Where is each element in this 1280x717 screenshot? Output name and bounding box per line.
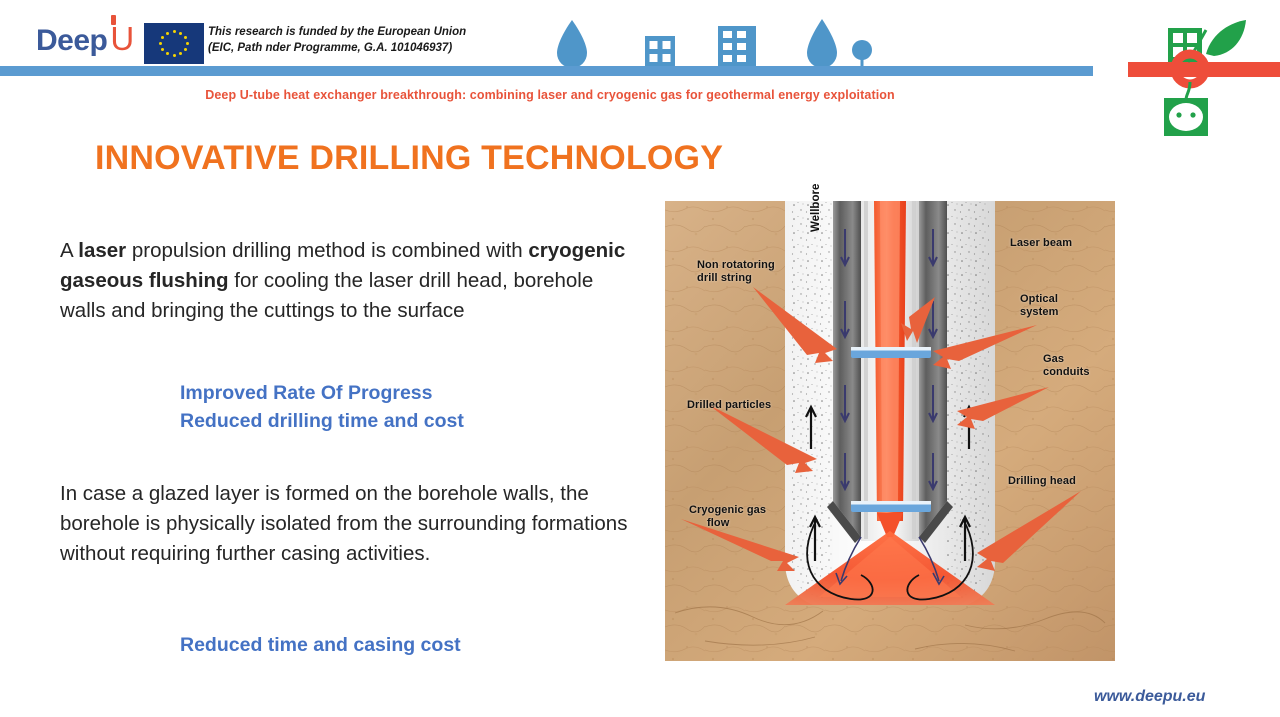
label-non-rotating-drill-string: Non rotatoring drill string: [697, 259, 817, 285]
label-line: Non rotatoring: [697, 259, 817, 272]
drilled-particles-right: [947, 201, 989, 598]
highlight-line-drilling-time-cost: Reduced drilling time and cost: [180, 407, 464, 435]
tree-icon: [807, 19, 837, 68]
label-drilling-head: Drilling head: [1008, 475, 1076, 488]
label-line: Gas: [1043, 353, 1090, 366]
label-gas-conduits: Gas conduits: [1043, 353, 1090, 379]
website-url[interactable]: www.deepu.eu: [1094, 688, 1205, 706]
small-building-icon: [645, 36, 675, 68]
label-line: Optical: [1020, 293, 1059, 306]
label-laser-beam: Laser beam: [1010, 237, 1072, 250]
label-wellbore: Wellbore: [810, 184, 822, 232]
label-cryogenic-gas-flow: Cryogenic gas flow: [689, 504, 799, 530]
project-tagline: Deep U-tube heat exchanger breakthrough:…: [0, 88, 1100, 102]
highlight-line-rate-of-progress: Improved Rate Of Progress: [180, 379, 464, 407]
optical-system-element: [851, 501, 931, 512]
label-line: conduits: [1043, 366, 1090, 379]
conduit-stripe: [912, 201, 916, 539]
bush-icon: [852, 40, 872, 68]
tree-icon: [557, 20, 587, 68]
label-line: system: [1020, 306, 1059, 319]
para1-mid: propulsion drilling method is combined w…: [126, 239, 528, 262]
paragraph-text: In case a glazed layer is formed on the …: [60, 479, 635, 569]
label-line: flow: [689, 517, 799, 530]
para1-pre: A: [60, 239, 78, 262]
label-optical-system: Optical system: [1020, 293, 1059, 319]
label-line: Cryogenic gas: [689, 504, 799, 517]
para1-bold-laser: laser: [78, 239, 126, 262]
highlight-benefits-2: Reduced time and casing cost: [180, 631, 461, 659]
main-paragraph-1: A laser propulsion drilling method is co…: [60, 236, 630, 326]
header-band: DeepU This research is funded by the Eur…: [0, 0, 1280, 84]
header-divider-rule: [0, 66, 1093, 76]
optical-system-element: [851, 347, 931, 358]
energy-logo-mark: [1128, 8, 1280, 136]
page-title: INNOVATIVE DRILLING TECHNOLOGY: [95, 139, 723, 178]
highlight-benefits-1: Improved Rate Of Progress Reduced drilli…: [180, 379, 464, 435]
conduit-stripe: [864, 201, 868, 539]
label-line: drill string: [697, 272, 817, 285]
main-paragraph-2: In case a glazed layer is formed on the …: [60, 479, 635, 569]
tall-building-icon: [718, 26, 756, 68]
leaf-icon: [1206, 20, 1246, 56]
power-socket-icon: [1164, 98, 1208, 136]
label-drilled-particles: Drilled particles: [687, 399, 771, 412]
drilling-diagram: Non rotatoring drill string Laser beam O…: [665, 201, 1115, 661]
paragraph-text: A laser propulsion drilling method is co…: [60, 236, 630, 326]
